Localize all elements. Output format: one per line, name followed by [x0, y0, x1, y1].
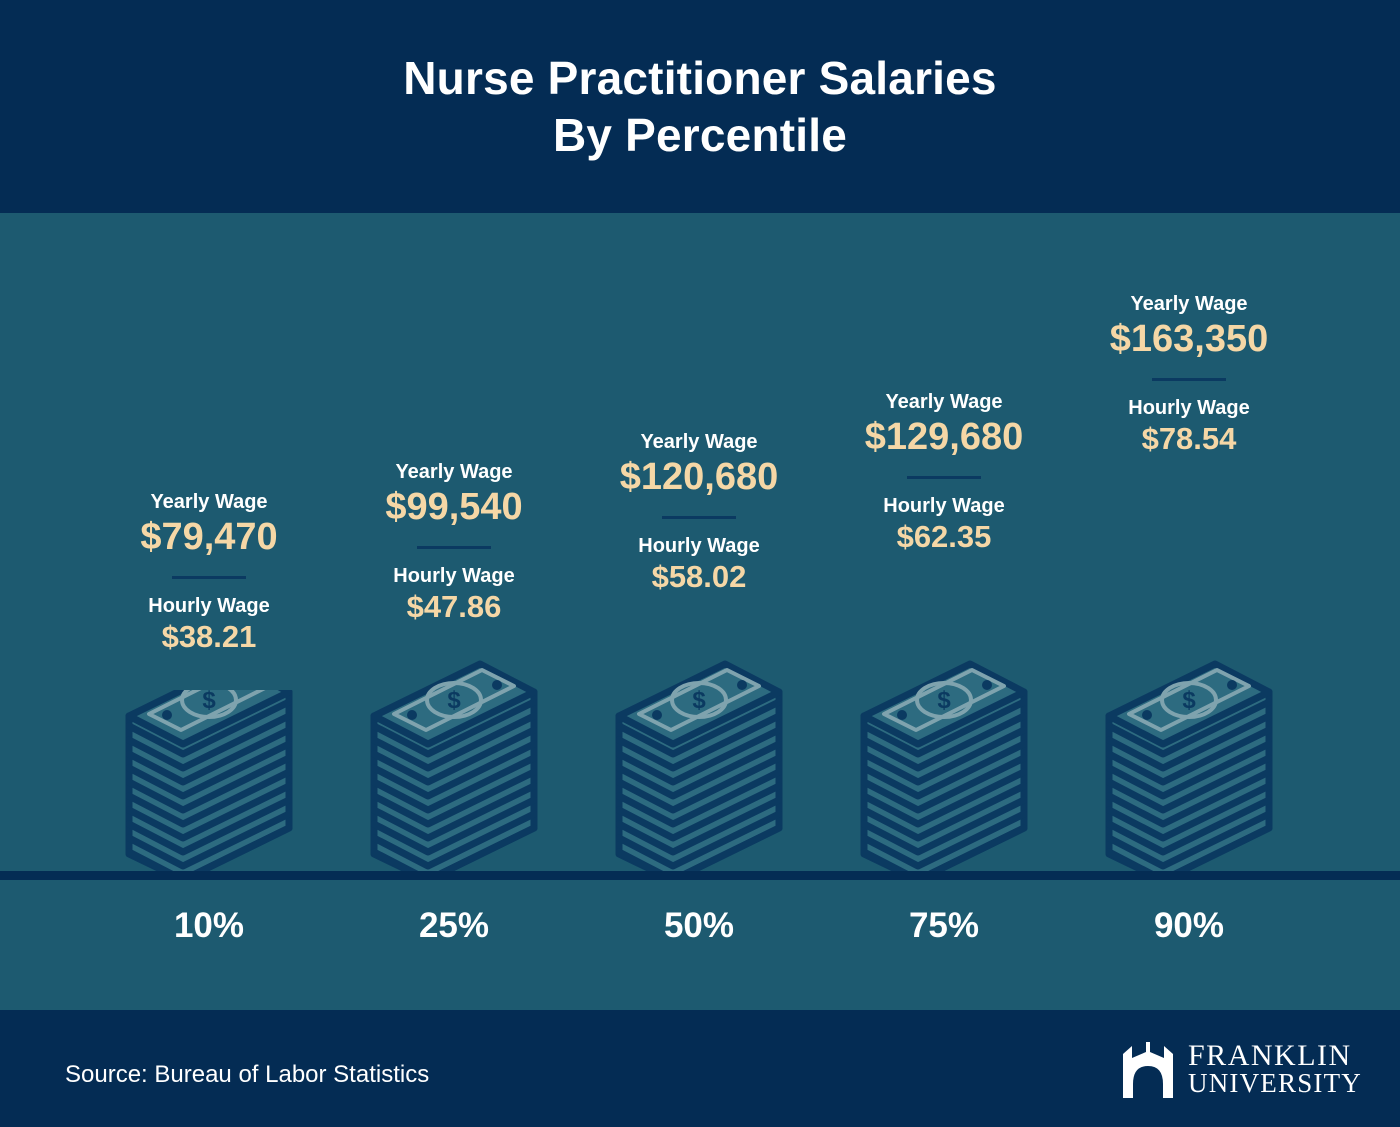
label-divider: [662, 516, 736, 519]
infographic-root: Nurse Practitioner Salaries By Percentil…: [0, 0, 1400, 1127]
hourly-wage-caption: Hourly Wage: [569, 535, 829, 558]
axis-label-50pct: 50%: [569, 906, 829, 946]
hourly-wage-value: $78.54: [1059, 420, 1319, 459]
hourly-wage-value: $47.86: [324, 588, 584, 627]
axis-label-25pct: 25%: [324, 906, 584, 946]
wage-label-group: Yearly Wage $99,540 Hourly Wage $47.86: [324, 461, 584, 626]
hourly-wage-caption: Hourly Wage: [324, 565, 584, 588]
yearly-wage-value: $99,540: [324, 484, 584, 532]
yearly-wage-caption: Yearly Wage: [79, 491, 339, 514]
money-stack-icon: $: [366, 654, 542, 880]
franklin-university-logo: FRANKLIN UNIVERSITY: [1120, 1040, 1362, 1098]
hourly-wage-caption: Hourly Wage: [79, 595, 339, 618]
wage-label-group: Yearly Wage $129,680 Hourly Wage $62.35: [814, 391, 1074, 556]
label-divider: [907, 476, 981, 479]
chart-column-10pct: Yearly Wage $79,470 Hourly Wage $38.21: [79, 213, 339, 871]
chart-column-75pct: Yearly Wage $129,680 Hourly Wage $62.35: [814, 213, 1074, 871]
money-stack-icon: $: [611, 624, 787, 880]
label-divider: [172, 576, 246, 579]
logo-wordmark: FRANKLIN UNIVERSITY: [1188, 1041, 1362, 1097]
label-divider: [417, 546, 491, 549]
yearly-wage-value: $163,350: [1059, 316, 1319, 364]
source-attribution: Source: Bureau of Labor Statistics: [65, 1061, 429, 1089]
yearly-wage-value: $79,470: [79, 514, 339, 562]
wage-label-group: Yearly Wage $120,680 Hourly Wage $58.02: [569, 431, 829, 596]
logo-line-university: UNIVERSITY: [1188, 1070, 1362, 1096]
yearly-wage-caption: Yearly Wage: [1059, 293, 1319, 316]
hourly-wage-value: $58.02: [569, 558, 829, 597]
page-title-line-1: Nurse Practitioner Salaries: [403, 50, 996, 106]
page-title-line-2: By Percentile: [553, 107, 847, 163]
axis-label-75pct: 75%: [814, 906, 1074, 946]
hourly-wage-value: $62.35: [814, 518, 1074, 557]
logo-line-franklin: FRANKLIN: [1188, 1041, 1362, 1070]
yearly-wage-value: $120,680: [569, 454, 829, 502]
hourly-wage-caption: Hourly Wage: [814, 495, 1074, 518]
yearly-wage-caption: Yearly Wage: [569, 431, 829, 454]
hourly-wage-caption: Hourly Wage: [1059, 397, 1319, 420]
label-divider: [1152, 378, 1226, 381]
chart-axis-area: 10% 25% 50% 75% 90%: [0, 880, 1400, 1010]
svg-text:$: $: [1182, 687, 1196, 714]
header-banner: Nurse Practitioner Salaries By Percentil…: [0, 0, 1400, 213]
money-stack-icon: $: [856, 584, 1032, 880]
hourly-wage-value: $38.21: [79, 618, 339, 657]
wage-label-group: Yearly Wage $79,470 Hourly Wage $38.21: [79, 491, 339, 656]
svg-text:$: $: [937, 687, 951, 714]
wage-label-group: Yearly Wage $163,350 Hourly Wage $78.54: [1059, 293, 1319, 458]
chart-column-25pct: Yearly Wage $99,540 Hourly Wage $47.86: [324, 213, 584, 871]
chart-baseline: [0, 871, 1400, 880]
svg-text:$: $: [447, 687, 461, 714]
yearly-wage-value: $129,680: [814, 414, 1074, 462]
chart-column-90pct: Yearly Wage $163,350 Hourly Wage $78.54: [1059, 213, 1319, 871]
axis-label-90pct: 90%: [1059, 906, 1319, 946]
svg-text:$: $: [202, 690, 216, 714]
money-stack-icon: $: [1101, 487, 1277, 880]
yearly-wage-caption: Yearly Wage: [814, 391, 1074, 414]
chart-plot-area: Yearly Wage $79,470 Hourly Wage $38.21: [0, 213, 1400, 871]
svg-text:$: $: [692, 687, 706, 714]
money-stack-icon: $: [121, 690, 297, 880]
footer-banner: Source: Bureau of Labor Statistics FRANK…: [0, 1010, 1400, 1127]
chart-column-50pct: Yearly Wage $120,680 Hourly Wage $58.02: [569, 213, 829, 871]
arch-logo-icon: [1120, 1040, 1176, 1098]
yearly-wage-caption: Yearly Wage: [324, 461, 584, 484]
axis-label-10pct: 10%: [79, 906, 339, 946]
